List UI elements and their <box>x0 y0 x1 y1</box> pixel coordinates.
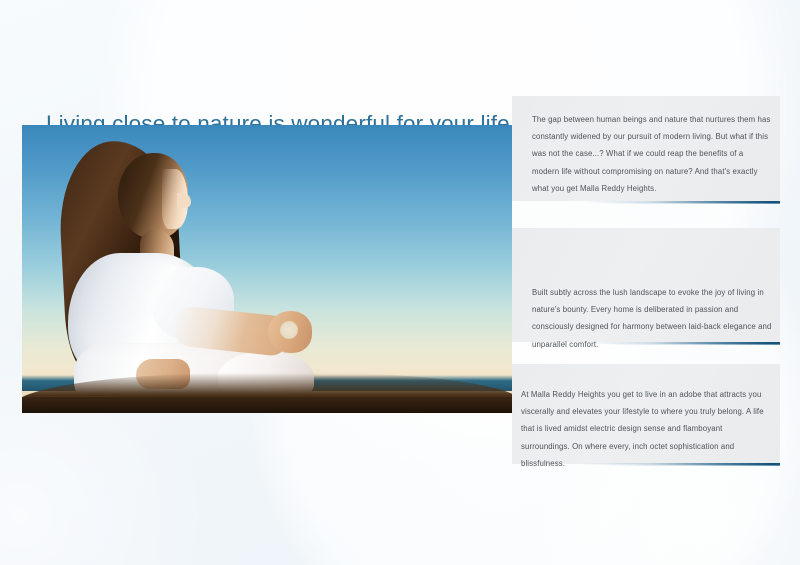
panel-divider <box>512 463 780 465</box>
text-panel-landscape: Built subtly across the lush landscape t… <box>512 228 780 342</box>
meditating-woman-figure <box>22 125 332 413</box>
panel-body-text: The gap between human beings and nature … <box>532 111 772 197</box>
panel-divider <box>512 342 780 344</box>
hero-image <box>22 125 512 413</box>
nose-shape <box>177 193 191 208</box>
text-panel-intro: The gap between human beings and nature … <box>512 96 780 201</box>
text-panel-lifestyle: At Malla Reddy Heights you get to live i… <box>512 364 780 464</box>
rock-shadow <box>22 397 512 413</box>
mudra-hand-shape <box>268 311 312 353</box>
panel-divider <box>512 201 780 203</box>
panel-body-text: At Malla Reddy Heights you get to live i… <box>521 386 773 472</box>
